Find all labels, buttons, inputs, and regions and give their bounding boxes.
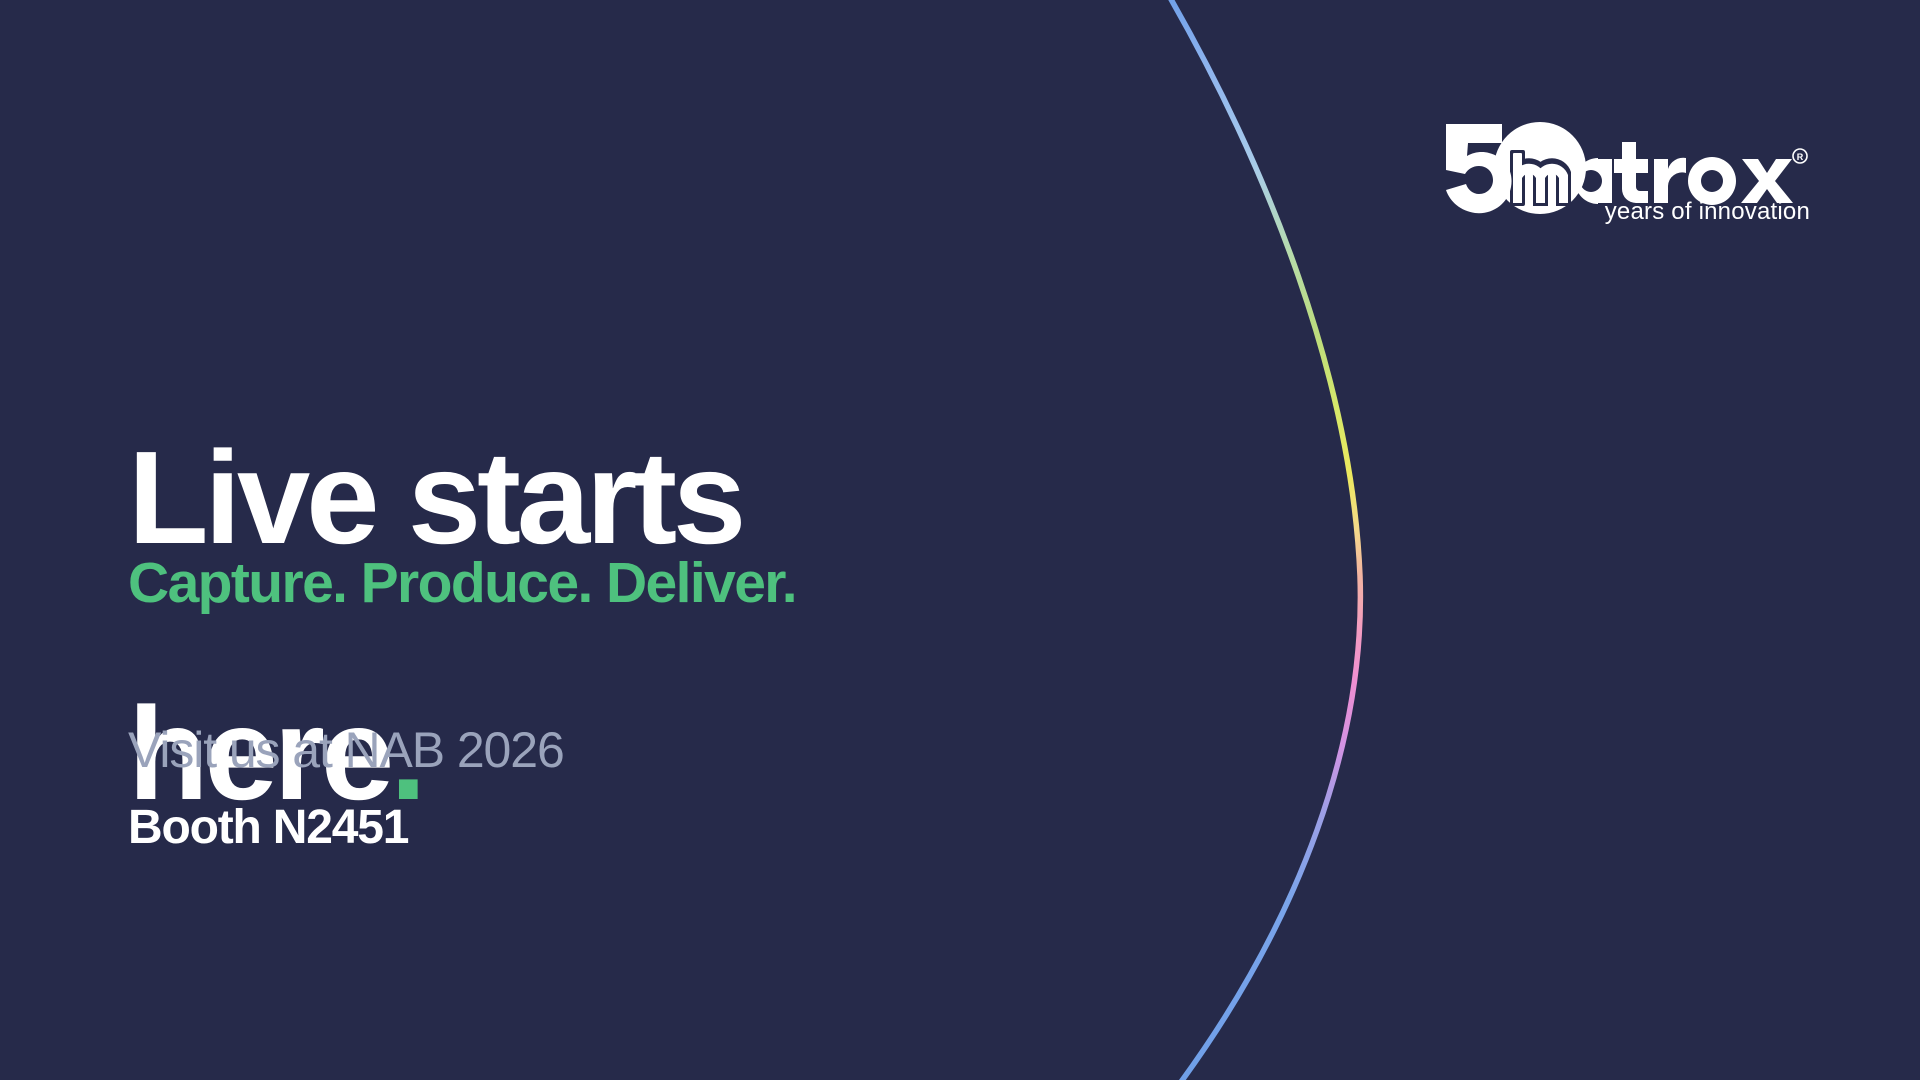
- logo-registered-icon: R: [1793, 149, 1807, 163]
- logo-letter-x: [1741, 159, 1793, 203]
- event-booth-number: Booth N2451: [128, 800, 408, 855]
- logo-letter-r: [1654, 158, 1686, 203]
- svg-text:R: R: [1797, 152, 1804, 162]
- headline-line-1: Live starts: [128, 434, 742, 562]
- page-title: Live starts here.: [128, 178, 742, 1074]
- event-visit-text: Visit us at NAB 2026: [128, 722, 564, 780]
- banner-content: Live starts here. Capture. Produce. Deli…: [128, 0, 1128, 1080]
- logo-letter-t: [1614, 142, 1648, 203]
- logo-tagline: years of innovation: [1605, 198, 1810, 226]
- subheadline: Capture. Produce. Deliver.: [128, 552, 796, 615]
- banner-canvas: Live starts here. Capture. Produce. Deli…: [0, 0, 1920, 1080]
